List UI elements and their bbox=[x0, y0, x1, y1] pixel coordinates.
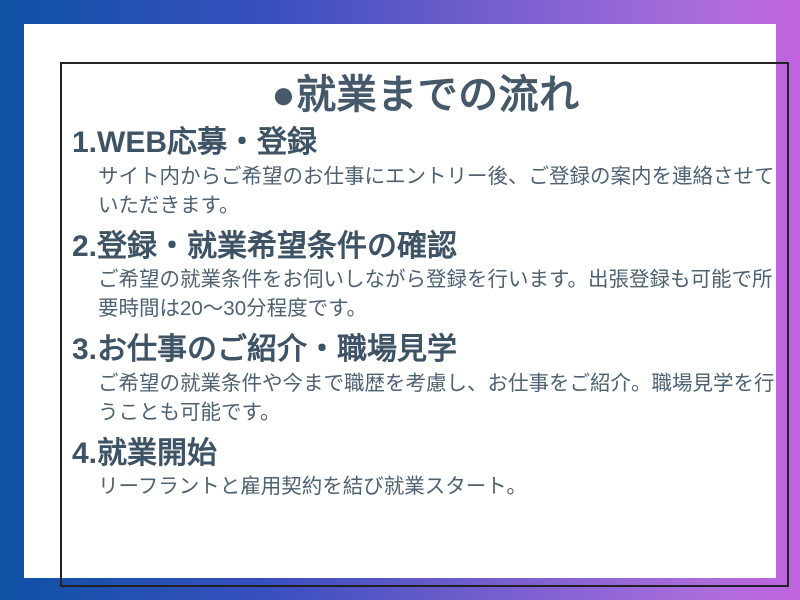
slide-canvas: ●就業までの流れ 1.WEB応募・登録 サイト内からご希望のお仕事にエントリー後… bbox=[0, 0, 800, 600]
step-1-heading: 1.WEB応募・登録 bbox=[72, 125, 779, 160]
step-3-body: ご希望の就業条件や今まで職歴を考慮し、お仕事をご紹介。職場見学を行うことも可能で… bbox=[72, 369, 779, 427]
step-4-body: リーフラントと雇用契約を結び就業スタート。 bbox=[72, 472, 779, 501]
step-2-body: ご希望の就業条件をお伺いしながら登録を行います。出張登録も可能で所要時間は20〜… bbox=[72, 265, 779, 323]
white-content-card: ●就業までの流れ 1.WEB応募・登録 サイト内からご希望のお仕事にエントリー後… bbox=[24, 24, 776, 578]
step-3-heading: 3.お仕事のご紹介・職場見学 bbox=[72, 332, 779, 367]
step-2-heading: 2.登録・就業希望条件の確認 bbox=[72, 229, 779, 264]
steps-list: 1.WEB応募・登録 サイト内からご希望のお仕事にエントリー後、ご登録の案内を連… bbox=[72, 125, 779, 501]
step-4-heading: 4.就業開始 bbox=[72, 436, 779, 471]
list-item: 3.お仕事のご紹介・職場見学 ご希望の就業条件や今まで職歴を考慮し、お仕事をご紹… bbox=[72, 332, 779, 427]
step-1-body: サイト内からご希望のお仕事にエントリー後、ご登録の案内を連絡させていただきます。 bbox=[72, 162, 779, 220]
page-title: ●就業までの流れ bbox=[72, 68, 779, 119]
list-item: 2.登録・就業希望条件の確認 ご希望の就業条件をお伺いしながら登録を行います。出… bbox=[72, 229, 779, 324]
list-item: 1.WEB応募・登録 サイト内からご希望のお仕事にエントリー後、ご登録の案内を連… bbox=[72, 125, 779, 220]
list-item: 4.就業開始 リーフラントと雇用契約を結び就業スタート。 bbox=[72, 436, 779, 502]
slide-content: ●就業までの流れ 1.WEB応募・登録 サイト内からご希望のお仕事にエントリー後… bbox=[60, 62, 789, 587]
